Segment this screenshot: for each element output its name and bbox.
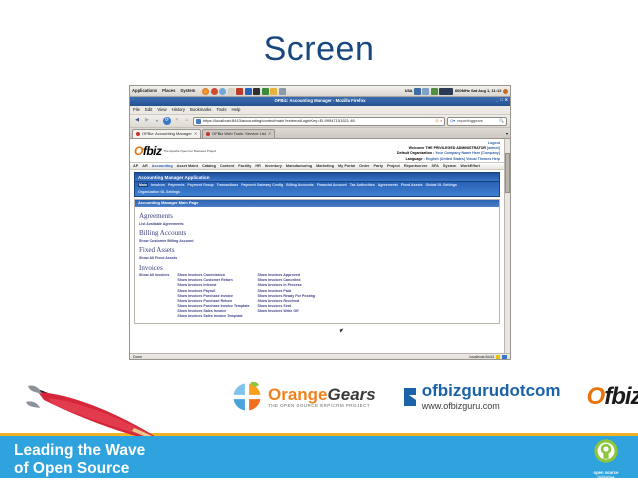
browser-menubar[interactable]: File Edit View History Bookmarks Tools H…: [130, 106, 510, 115]
ofbiz-brand-initial: O: [587, 383, 605, 410]
scrollbar-thumb[interactable]: [505, 153, 510, 193]
link-show-invoices-received[interactable]: Show Invoices Received: [257, 299, 315, 303]
tab-accounting-manager[interactable]: OFBiz: Accounting Manager ✕: [132, 129, 201, 138]
sub-tab-billing-accounts[interactable]: Billing Accounts: [286, 183, 313, 187]
link-column: Show All Fixed Assets: [139, 255, 177, 260]
main-menu-item-system[interactable]: System: [443, 164, 457, 168]
language-label: Language :: [406, 157, 425, 161]
clock[interactable]: 600MHz Sat Aug 1, 11:12: [455, 89, 502, 94]
welcome-text: Welcome THE PRIVILEGED ADMINISTRATOR: [409, 146, 486, 150]
media-launcher-icon[interactable]: [236, 88, 243, 95]
tab-list-icon[interactable]: ▾: [506, 132, 508, 138]
keyboard-layout-indicator[interactable]: USA: [405, 89, 413, 93]
slide-footer: OrangeGears THE OPEN SOURCE ERP/CRM PROJ…: [0, 370, 638, 478]
footer-logos: OrangeGears THE OPEN SOURCE ERP/CRM PROJ…: [0, 370, 638, 433]
menu-tools[interactable]: Tools: [216, 108, 226, 113]
link-show-all-fixed-assets[interactable]: Show All Fixed Assets: [139, 256, 177, 260]
forward-arrow-icon[interactable]: ▶: [143, 117, 151, 125]
firefox-launcher-icon[interactable]: [202, 88, 209, 95]
main-menu-item-facility[interactable]: Facility: [238, 164, 251, 168]
sub-tab-organization-gl-settings[interactable]: Organization GL Settings: [138, 190, 180, 194]
section-links: Show Customer Billing Account: [139, 238, 495, 243]
user-switch-icon[interactable]: [503, 89, 508, 94]
notes-launcher-icon[interactable]: [279, 88, 286, 95]
window-titlebar: OFBiz: Accounting Manager - Mozilla Fire…: [130, 97, 510, 106]
main-menu-item-project[interactable]: Project: [387, 164, 400, 168]
main-menu-item-ap[interactable]: AP: [133, 164, 138, 168]
main-menu-item-order[interactable]: Order: [359, 164, 369, 168]
sub-tab-transactions[interactable]: Transactions: [217, 183, 239, 187]
ofbiz-logo-text: fbiz: [143, 145, 162, 159]
main-menu-item-reportserver[interactable]: Reportserver: [404, 164, 428, 168]
org-label: Default Organization :: [397, 151, 434, 155]
openoffice-launcher-icon[interactable]: [245, 88, 252, 95]
status-text: Done: [133, 355, 142, 359]
link-show-invoices-customer-return[interactable]: Show Invoices Customer Return: [177, 278, 249, 282]
section-links: List Available Agreements: [139, 221, 495, 226]
site-favicon-icon: [196, 119, 201, 124]
cpu-monitor-icon[interactable]: [431, 88, 438, 95]
firefox-window: OFBiz: Accounting Manager - Mozilla Fire…: [130, 97, 510, 360]
link-show-customer-billing-account[interactable]: Show Customer Billing Account: [139, 239, 194, 243]
orangegears-name-part1: Orange: [268, 385, 328, 404]
panel-body: AgreementsList Available AgreementsBilli…: [135, 207, 499, 323]
help-link[interactable]: Help: [492, 157, 500, 161]
sub-tab-agreements[interactable]: Agreements: [378, 183, 398, 187]
link-show-all-invoices[interactable]: Show All Invoices: [139, 273, 169, 277]
link-column: List Available Agreements: [139, 221, 184, 226]
orangegears-name-part2: Gears: [328, 385, 376, 404]
mouse-cursor: [340, 328, 345, 332]
osi-keyhole-icon: [593, 438, 619, 464]
application-title-band: Accounting Manager Application: [134, 172, 500, 182]
close-icon[interactable]: ✕: [505, 98, 508, 103]
url-text[interactable]: https://localhost:8443/accounting/contro…: [203, 119, 355, 124]
org-value[interactable]: Your Company Name Here [Company]: [435, 151, 500, 155]
link-show-invoices-paid[interactable]: Show Invoices Paid: [257, 289, 315, 293]
status-host: localhost:8443: [470, 355, 495, 359]
orangegears-mark-icon: [230, 380, 264, 414]
tagline-line1: Leading the Wave: [14, 442, 145, 460]
menu-view[interactable]: View: [157, 108, 166, 113]
ofbiz-logo[interactable]: Ofbiz: [134, 141, 162, 162]
network-icon[interactable]: [414, 88, 421, 95]
menu-edit[interactable]: Edit: [145, 108, 152, 113]
browser-statusbar: Done localhost:8443: [130, 353, 510, 360]
embedded-screenshot: Applications Places System USA 600MHz Sa…: [129, 85, 511, 360]
link-column: Show Invoices ApprovedShow Invoices Canc…: [257, 273, 315, 319]
section-title-billing-accounts: Billing Accounts: [139, 229, 495, 237]
gnome-menu-system[interactable]: System: [180, 89, 195, 94]
main-menu-item-workeffort[interactable]: WorkEffort: [460, 164, 480, 168]
link-show-invoices-sales-invoice-template[interactable]: Show Invoices Sales Invoice Template: [177, 314, 249, 318]
menu-bookmarks[interactable]: Bookmarks: [190, 108, 212, 113]
gnome-menu-applications[interactable]: Applications: [132, 89, 157, 94]
main-menu-item-accounting[interactable]: Accounting: [152, 164, 173, 168]
main-menu-item-content[interactable]: Content: [220, 164, 234, 168]
ofbiz-sub-tabs[interactable]: MainInvoicesPaymentsPayment GroupTransac…: [134, 182, 500, 197]
search-input[interactable]: G▾ reportinggears 🔍: [447, 117, 507, 126]
link-show-invoices-payroll[interactable]: Show Invoices Payroll: [177, 289, 249, 293]
footer-tagline: Leading the Wave of Open Source: [14, 442, 145, 478]
language-value[interactable]: English (United States): [426, 157, 465, 161]
sub-tab-payment-group[interactable]: Payment Group: [188, 183, 214, 187]
ofbiz-logo-tagline: The Apache Open For Business Project: [164, 150, 217, 154]
url-input[interactable]: https://localhost:8443/accounting/contro…: [193, 117, 445, 126]
terminal-launcher-icon[interactable]: [253, 88, 260, 95]
ofbizguru-name: ofbizgurudotcom: [422, 382, 561, 400]
ofbizguru-url: www.ofbizguru.com: [422, 402, 561, 411]
window-controls[interactable]: _ □ ✕: [496, 98, 508, 103]
link-show-invoices-interest[interactable]: Show Invoices Interest: [177, 283, 249, 287]
ofbiz-page: Ofbiz The Apache Open For Business Proje…: [130, 139, 504, 353]
maximize-icon[interactable]: □: [500, 98, 502, 103]
main-menu-item-manufacturing[interactable]: Manufacturing: [286, 164, 312, 168]
webpage-viewport: Ofbiz The Apache Open For Business Proje…: [130, 139, 510, 353]
link-show-invoices-purchase-invoice-template[interactable]: Show Invoices Purchase Invoice Template: [177, 304, 249, 308]
orangegears-subtitle: THE OPEN SOURCE ERP/CRM PROJECT: [268, 404, 376, 409]
search-icon[interactable]: 🔍: [499, 119, 504, 124]
sub-tab-fixed-assets[interactable]: Fixed Assets: [401, 183, 422, 187]
section-title-fixed-assets: Fixed Assets: [139, 246, 495, 254]
reload-icon[interactable]: ⟳: [163, 117, 171, 125]
tab-web-tools-service-list[interactable]: OFBiz Web Tools: Service List ✕: [202, 129, 275, 138]
calc-launcher-icon[interactable]: [262, 88, 269, 95]
ofbizguru-mark-icon: [402, 386, 418, 408]
welcome-user-link[interactable]: [admin]: [487, 146, 500, 150]
section-links: Show All InvoicesShow Invoices Commissio…: [139, 273, 495, 319]
main-menu-item-marketing[interactable]: Marketing: [316, 164, 334, 168]
tab-favicon-icon: [136, 132, 140, 136]
link-show-invoices-in-process[interactable]: Show Invoices In Process: [257, 283, 315, 287]
section-title-agreements: Agreements: [139, 212, 495, 220]
tab-label: OFBiz Web Tools: Service List: [212, 132, 266, 137]
link-column: Show Customer Billing Account: [139, 238, 194, 243]
partner-logos: OrangeGears THE OPEN SOURCE ERP/CRM PROJ…: [230, 380, 638, 414]
menu-history[interactable]: History: [172, 108, 185, 113]
ofbiz-main-menu[interactable]: APARAccountingAsset MaintCatalogContentF…: [130, 162, 504, 170]
main-menu-item-catalog[interactable]: Catalog: [202, 164, 216, 168]
back-arrow-icon[interactable]: ◀: [133, 117, 141, 125]
window-title: OFBiz: Accounting Manager - Mozilla Fire…: [274, 99, 365, 104]
ofbiz-brand-logo: Ofbiz: [587, 383, 638, 411]
panel-title: Accounting Manager Main Page: [135, 200, 499, 207]
sub-tab-global-gl-settings[interactable]: Global GL Settings: [426, 183, 457, 187]
tab-label: OFBiz: Accounting Manager: [142, 132, 192, 137]
main-menu-item-inventory[interactable]: Inventory: [265, 164, 282, 168]
page-scrollbar[interactable]: [504, 139, 510, 353]
page-title: Screen: [0, 30, 638, 69]
tab-favicon-icon: [206, 132, 210, 136]
home-icon[interactable]: ⌂: [183, 117, 191, 125]
link-column: Show All Invoices: [139, 273, 169, 319]
gnome-menu-group[interactable]: Applications Places System: [132, 89, 195, 94]
help-launcher-icon[interactable]: [219, 88, 226, 95]
gnome-top-panel: Applications Places System USA 600MHz Sa…: [130, 86, 510, 97]
tab-close-icon[interactable]: ✕: [268, 132, 271, 137]
stop-icon[interactable]: ✕: [173, 117, 181, 125]
link-show-invoices-purchase-invoice[interactable]: Show Invoices Purchase Invoice: [177, 294, 249, 298]
security-indicator: [502, 355, 507, 360]
sub-tab-payment-gateway-config[interactable]: Payment Gateway Config: [241, 183, 283, 187]
orangegears-logo: OrangeGears THE OPEN SOURCE ERP/CRM PROJ…: [230, 380, 376, 414]
sub-tab-tax-authorities[interactable]: Tax Authorities: [350, 183, 375, 187]
ofbiz-site-header: Ofbiz The Apache Open For Business Proje…: [130, 139, 504, 162]
chevron-down-icon[interactable]: ▾: [153, 117, 161, 125]
ofbizguru-logo: ofbizgurudotcom www.ofbizguru.com: [402, 382, 561, 411]
section-title-invoices: Invoices: [139, 264, 495, 272]
search-engine-icon[interactable]: G▾: [450, 119, 455, 124]
link-show-invoices-commission[interactable]: Show Invoices Commission: [177, 273, 249, 277]
link-show-invoices-ready-for-posting[interactable]: Show Invoices Ready For Posting: [257, 294, 315, 298]
section-links: Show All Fixed Assets: [139, 255, 495, 260]
panel-launcher-icons[interactable]: [202, 88, 286, 95]
volume-icon[interactable]: [422, 88, 429, 95]
tab-close-icon[interactable]: ✕: [194, 132, 197, 137]
sub-tab-financial-account[interactable]: Financial Account: [317, 183, 347, 187]
gnome-menu-places[interactable]: Places: [162, 89, 175, 94]
ofbiz-brand-name: fbiz: [604, 383, 638, 410]
panel-status-area[interactable]: USA 600MHz Sat Aug 1, 11:12: [405, 88, 508, 95]
open-source-initiative-logo: open source initiative: [588, 438, 624, 476]
link-show-invoices-approved[interactable]: Show Invoices Approved: [257, 273, 315, 277]
files-launcher-icon[interactable]: [228, 88, 235, 95]
link-column: Show Invoices CommissionShow Invoices Cu…: [177, 273, 249, 319]
mail-launcher-icon[interactable]: [211, 88, 218, 95]
browser-navigation-toolbar: ◀ ▶ ▾ ⟳ ✕ ⌂ https://localhost:8443/accou…: [130, 115, 510, 128]
archive-launcher-icon[interactable]: [270, 88, 277, 95]
sub-tab-payments[interactable]: Payments: [168, 183, 185, 187]
menu-help[interactable]: Help: [232, 108, 241, 113]
main-menu-item-hr[interactable]: HR: [255, 164, 260, 168]
system-monitor-icon[interactable]: [439, 88, 453, 95]
link-list-available-agreements[interactable]: List Available Agreements: [139, 222, 184, 226]
rss-icon[interactable]: ◎: [435, 119, 439, 124]
minimize-icon[interactable]: _: [496, 98, 498, 103]
ofbiz-header-links: Logout Welcome THE PRIVILEGED ADMINISTRA…: [397, 141, 500, 162]
link-show-invoices-purchase-return[interactable]: Show Invoices Purchase Return: [177, 299, 249, 303]
link-show-invoices-sales-invoice[interactable]: Show Invoices Sales Invoice: [177, 309, 249, 313]
ofbiz-logo-initial: O: [134, 145, 143, 159]
main-menu-item-asset-maint[interactable]: Asset Maint: [177, 164, 198, 168]
browser-tabbar: OFBiz: Accounting Manager ✕ OFBiz Web To…: [130, 128, 510, 139]
main-menu-item-party[interactable]: Party: [373, 164, 383, 168]
link-show-invoices-sent[interactable]: Show Invoices Sent: [257, 304, 315, 308]
sub-tab-main[interactable]: Main: [138, 183, 148, 187]
tagline-line2: of Open Source: [14, 460, 145, 478]
footer-blue-band: Leading the Wave of Open Source open sou…: [0, 436, 638, 478]
sub-tab-invoices[interactable]: Invoices: [151, 183, 165, 187]
padlock-icon: [496, 355, 500, 360]
bookmark-star-icon[interactable]: ▪: [441, 119, 442, 124]
main-menu-item-sfa[interactable]: SFA: [431, 164, 438, 168]
main-menu-item-my-portal[interactable]: My Portal: [338, 164, 355, 168]
link-show-invoices-write-off[interactable]: Show Invoices Write Off: [257, 309, 315, 313]
main-menu-item-ar[interactable]: AR: [142, 164, 147, 168]
search-value[interactable]: reportinggears: [457, 119, 483, 124]
link-show-invoices-cancelled[interactable]: Show Invoices Cancelled: [257, 278, 315, 282]
main-content-panel: Accounting Manager Main Page AgreementsL…: [134, 199, 500, 323]
visual-themes-link[interactable]: Visual Themes: [466, 157, 491, 161]
menu-file[interactable]: File: [133, 108, 140, 113]
